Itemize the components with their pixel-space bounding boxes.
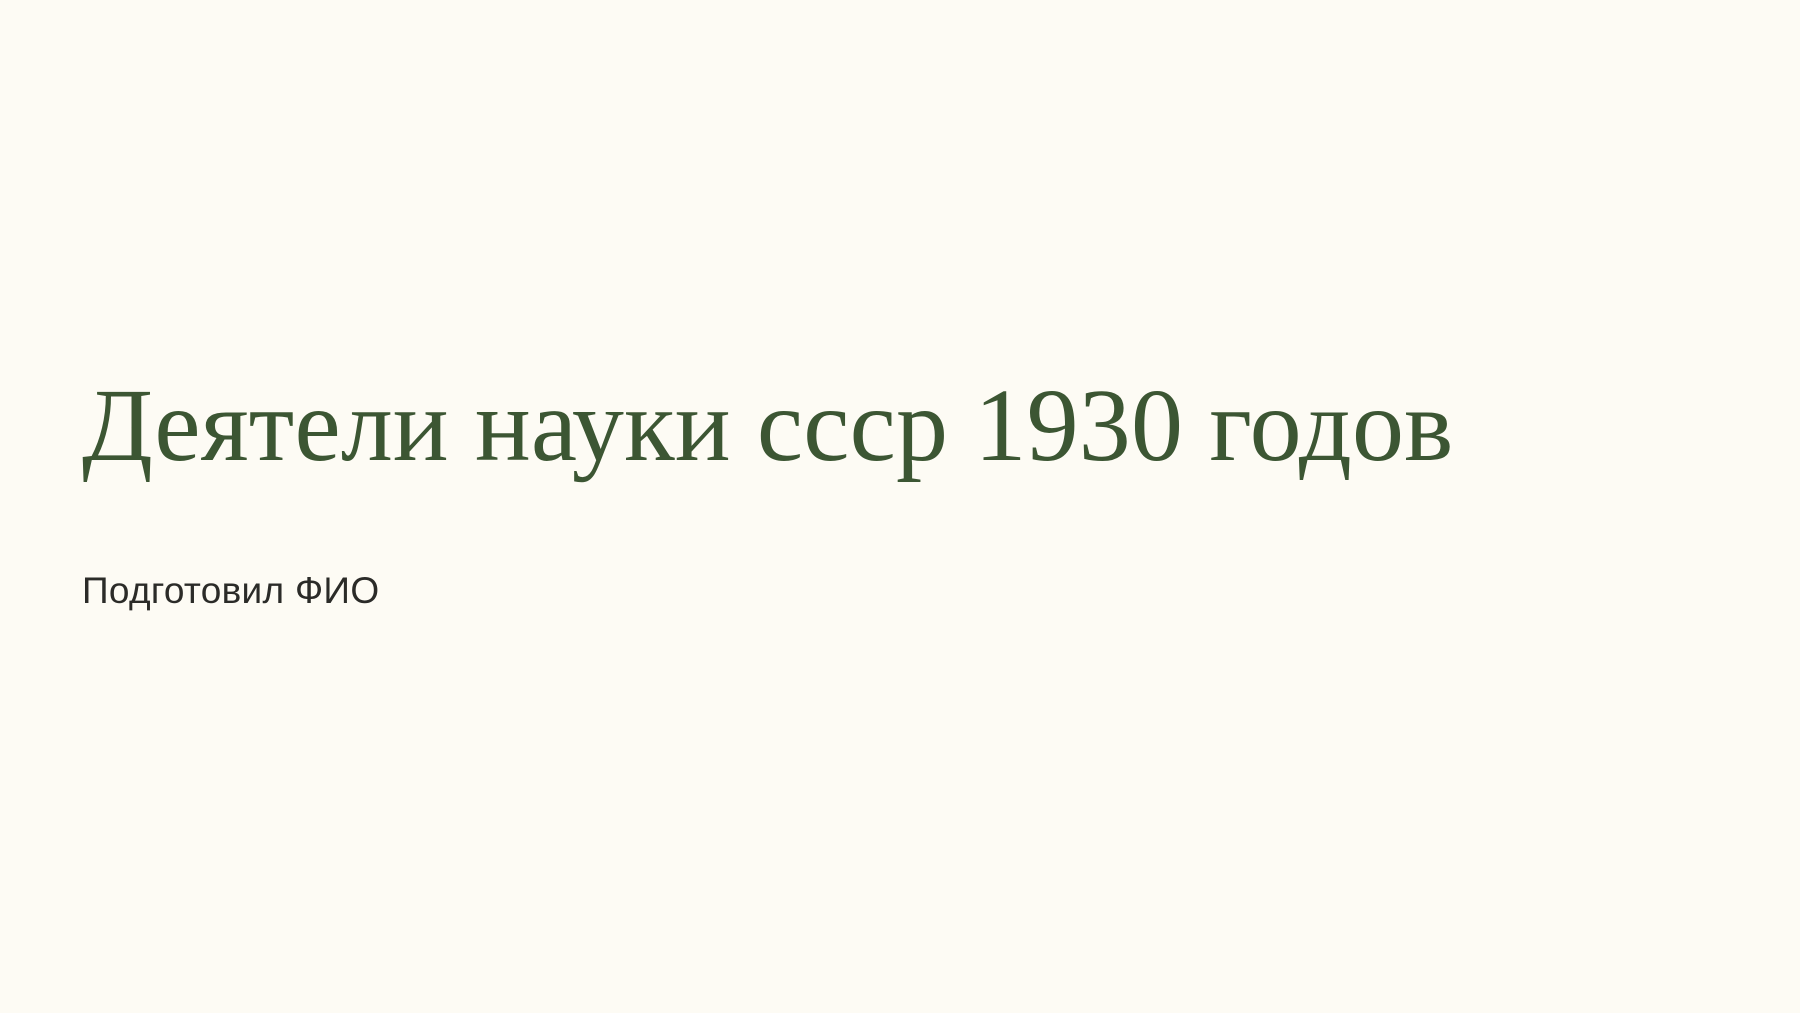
title-slide: Деятели науки ссср 1930 годов Подготовил… [0, 0, 1800, 1013]
page-title: Деятели науки ссср 1930 годов [82, 368, 1642, 484]
slide-content-area: Деятели науки ссср 1930 годов Подготовил… [82, 0, 1702, 1013]
slide-subtitle: Подготовил ФИО [82, 568, 379, 614]
